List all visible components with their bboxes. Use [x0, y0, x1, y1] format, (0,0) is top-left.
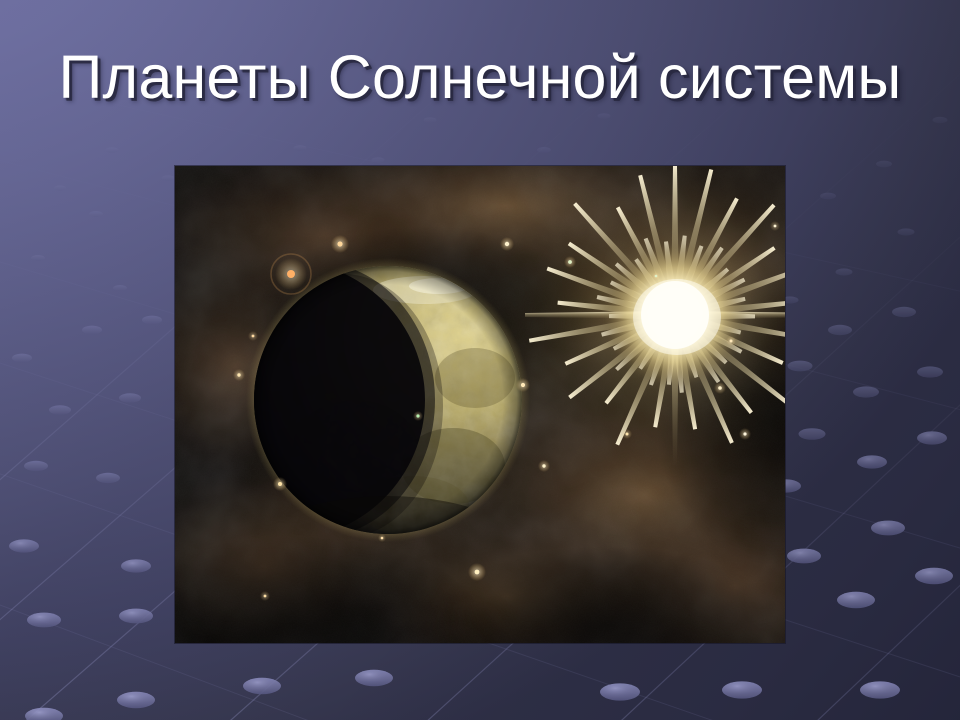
presentation-slide: Планеты Солнечной системы	[0, 0, 960, 720]
slide-image-space-planet[interactable]	[175, 166, 785, 643]
slide-image-canvas	[175, 166, 785, 643]
